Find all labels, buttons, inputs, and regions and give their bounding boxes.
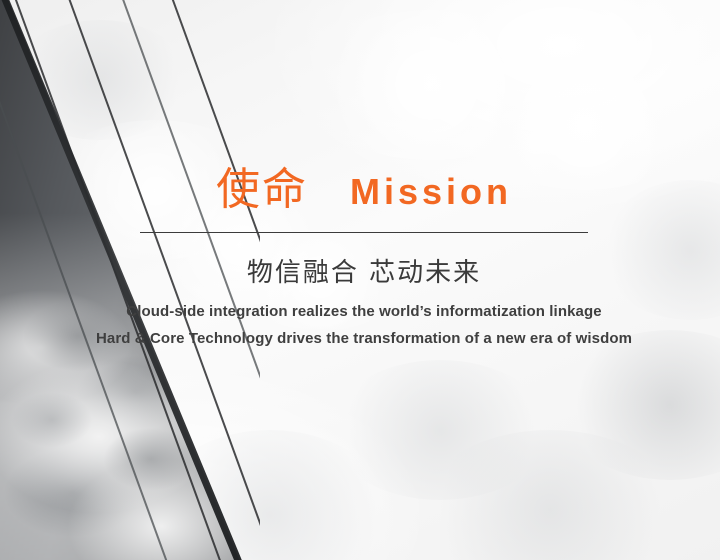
banner-content: 使命 Mission 物信融合 芯动未来 Cloud-side integrat… <box>0 0 720 560</box>
mission-banner: 使命 Mission 物信融合 芯动未来 Cloud-side integrat… <box>0 0 720 560</box>
description-block: Cloud-side integration realizes the worl… <box>60 298 668 352</box>
headline-english: Mission <box>350 174 512 210</box>
description-line-2: Hard & Core Technology drives the transf… <box>60 325 668 352</box>
headline: 使命 Mission <box>140 168 588 212</box>
headline-divider <box>140 232 588 233</box>
description-line-1: Cloud-side integration realizes the worl… <box>60 298 668 325</box>
headline-chinese: 使命 <box>216 168 308 212</box>
subtitle-chinese: 物信融合 芯动未来 <box>140 256 588 290</box>
